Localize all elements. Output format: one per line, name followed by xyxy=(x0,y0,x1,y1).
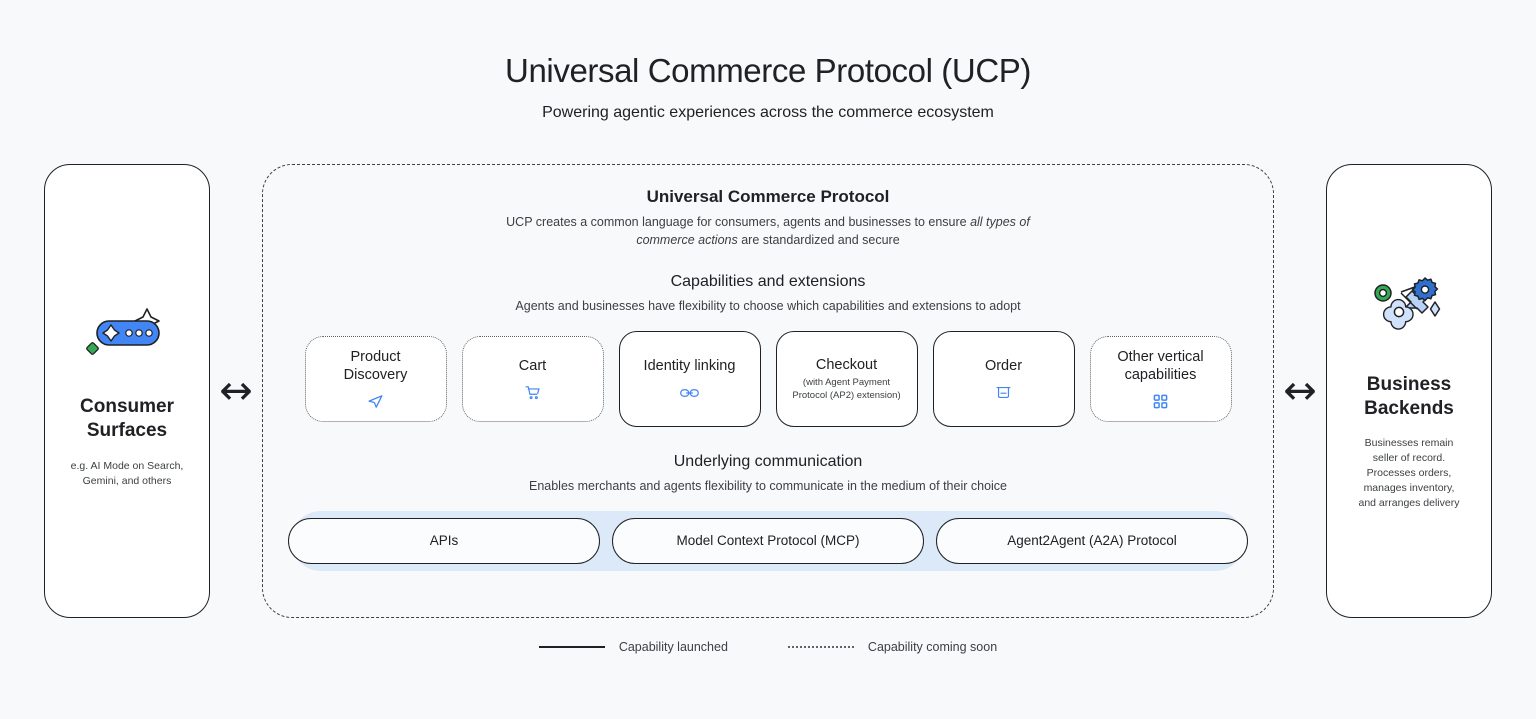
ucp-subtitle-italic1: all types of xyxy=(970,215,1030,229)
legend-item-coming-soon: Capability coming soon xyxy=(788,640,997,654)
left-bidirectional-arrow-icon: ↔ xyxy=(210,164,262,618)
capability-sublabel-line-1: (with Agent Payment xyxy=(792,377,900,389)
page-title: Universal Commerce Protocol (UCP) xyxy=(0,52,1536,90)
communication-pills-container: APIs Model Context Protocol (MCP) Agent2… xyxy=(291,511,1245,571)
capability-card-checkout[interactable]: Checkout (with Agent Payment Protocol (A… xyxy=(776,331,918,427)
grid-squares-icon xyxy=(1153,393,1168,409)
page-header: Universal Commerce Protocol (UCP) Poweri… xyxy=(0,0,1536,122)
capability-sublabel: (with Agent Payment Protocol (AP2) exten… xyxy=(792,377,900,401)
ucp-subtitle-part1: UCP creates a common language for consum… xyxy=(506,215,970,229)
capabilities-title: Capabilities and extensions xyxy=(287,273,1249,291)
diagram-stage: Consumer Surfaces e.g. AI Mode on Search… xyxy=(0,164,1536,618)
business-backends-panel[interactable]: Business Backends Businesses remain sell… xyxy=(1326,164,1492,618)
legend-label-coming-soon: Capability coming soon xyxy=(868,640,997,654)
capability-label-line-1: Other vertical xyxy=(1117,349,1203,366)
ucp-subtitle-italic2: commerce actions xyxy=(636,233,737,247)
legend-label-launched: Capability launched xyxy=(619,640,728,654)
legend-solid-line-icon xyxy=(539,646,605,648)
link-chain-icon xyxy=(680,385,699,401)
right-bidirectional-arrow-icon: ↔ xyxy=(1274,164,1326,618)
capability-card-identity-linking[interactable]: Identity linking xyxy=(619,331,761,427)
capability-label-line-1: Product xyxy=(344,349,408,366)
legend-item-launched: Capability launched xyxy=(539,640,728,654)
capability-label: Cart xyxy=(519,358,546,375)
ucp-container: Universal Commerce Protocol UCP creates … xyxy=(262,164,1274,618)
capability-card-other-vertical[interactable]: Other vertical capabilities xyxy=(1090,336,1232,422)
package-box-icon xyxy=(995,385,1012,401)
ucp-title: Universal Commerce Protocol xyxy=(287,187,1249,207)
capability-label: Checkout xyxy=(816,357,877,374)
capability-card-cart[interactable]: Cart xyxy=(462,336,604,422)
capability-label-line-2: capabilities xyxy=(1117,367,1203,384)
send-navigation-icon xyxy=(367,393,384,409)
communication-subtitle: Enables merchants and agents flexibility… xyxy=(448,477,1088,495)
panel-desc-line-1: e.g. AI Mode on Search, xyxy=(71,459,184,474)
capabilities-section: Capabilities and extensions Agents and b… xyxy=(287,273,1249,427)
communication-section: Underlying communication Enables merchan… xyxy=(287,453,1249,570)
ai-chat-sparkle-icon xyxy=(79,293,175,369)
panel-desc-line-2: Gemini, and others xyxy=(71,474,184,489)
ucp-subtitle-part2: are standardized and secure xyxy=(738,233,900,247)
panel-desc-line-3: Processes orders, xyxy=(1359,466,1460,481)
capability-label: Other vertical capabilities xyxy=(1117,349,1203,384)
capability-label-line-2: Discovery xyxy=(344,367,408,384)
ucp-subtitle: UCP creates a common language for consum… xyxy=(488,213,1048,249)
panel-title-line-2: Backends xyxy=(1364,397,1454,421)
communication-pill-a2a[interactable]: Agent2Agent (A2A) Protocol xyxy=(936,518,1248,564)
capability-cards-row: Product Discovery Cart xyxy=(287,331,1249,427)
consumer-surfaces-title: Consumer Surfaces xyxy=(80,395,174,443)
panel-desc-line-1: Businesses remain xyxy=(1359,436,1460,451)
capability-label: Identity linking xyxy=(644,358,736,375)
panel-desc-line-5: and arranges delivery xyxy=(1359,496,1460,511)
shopping-cart-icon xyxy=(524,385,541,401)
panel-desc-line-4: manages inventory, xyxy=(1359,481,1460,496)
capability-card-product-discovery[interactable]: Product Discovery xyxy=(305,336,447,422)
panel-title-line-1: Business xyxy=(1364,373,1454,397)
capabilities-subtitle: Agents and businesses have flexibility t… xyxy=(448,297,1088,315)
business-backends-description: Businesses remain seller of record. Proc… xyxy=(1359,436,1460,511)
communication-pill-apis[interactable]: APIs xyxy=(288,518,600,564)
panel-title-line-2: Surfaces xyxy=(80,419,174,443)
page-subtitle: Powering agentic experiences across the … xyxy=(0,104,1536,122)
capability-label: Product Discovery xyxy=(344,349,408,384)
capability-label: Order xyxy=(985,358,1022,375)
business-backends-title: Business Backends xyxy=(1364,373,1454,421)
consumer-surfaces-description: e.g. AI Mode on Search, Gemini, and othe… xyxy=(71,459,184,489)
panel-title-line-1: Consumer xyxy=(80,395,174,419)
gears-network-icon xyxy=(1361,271,1457,347)
communication-pill-mcp[interactable]: Model Context Protocol (MCP) xyxy=(612,518,924,564)
capability-card-order[interactable]: Order xyxy=(933,331,1075,427)
legend: Capability launched Capability coming so… xyxy=(0,640,1536,654)
capability-sublabel-line-2: Protocol (AP2) extension) xyxy=(792,390,900,402)
legend-dotted-line-icon xyxy=(788,646,854,648)
consumer-surfaces-panel[interactable]: Consumer Surfaces e.g. AI Mode on Search… xyxy=(44,164,210,618)
panel-desc-line-2: seller of record. xyxy=(1359,451,1460,466)
communication-title: Underlying communication xyxy=(287,453,1249,471)
